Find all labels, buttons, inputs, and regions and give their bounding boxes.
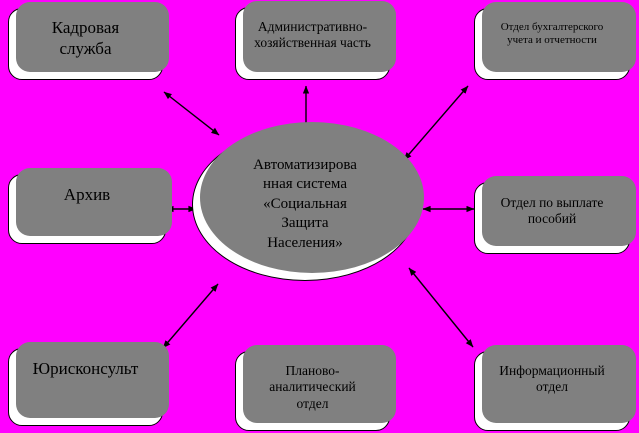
node-label: Отдел бухгалтерского учета и отчетности bbox=[475, 21, 629, 48]
node-label: Административно- хозяйственная часть bbox=[236, 19, 389, 52]
node-label: Отдел по выплате пособий bbox=[475, 195, 629, 228]
connector-center-to-informatsionnyy-otdel bbox=[409, 268, 473, 347]
node-label: Информационный отдел bbox=[475, 363, 629, 396]
node-label: Кадровая служба bbox=[9, 18, 162, 59]
node-administrativno-hozyaystvennaya-chast[interactable]: Административно- хозяйственная часть bbox=[235, 7, 390, 80]
connector-center-to-otdel-buhgalterskogo-ucheta bbox=[404, 86, 468, 160]
connector-center-to-kadrovaya-sluzhba bbox=[164, 92, 219, 135]
connector-center-to-yuriskonsult bbox=[163, 284, 218, 348]
node-kadrovaya-sluzhba[interactable]: Кадровая служба bbox=[8, 8, 163, 80]
node-center-system[interactable]: Автоматизирова нная система «Социальная … bbox=[192, 128, 418, 281]
node-label: Архив bbox=[9, 185, 165, 206]
node-label: Юрисконсульт bbox=[9, 359, 162, 380]
node-otdel-po-vyplate-posobiy[interactable]: Отдел по выплате пособий bbox=[474, 182, 630, 254]
node-planovo-analiticheskiy-otdel[interactable]: Планово- аналитический отдел bbox=[235, 351, 390, 431]
node-label: Автоматизирова нная система «Социальная … bbox=[209, 156, 402, 254]
node-informatsionnyy-otdel[interactable]: Информационный отдел bbox=[474, 351, 630, 431]
node-yuriskonsult[interactable]: Юрисконсульт bbox=[8, 348, 163, 426]
diagram-canvas: Кадровая служба Административно- хозяйст… bbox=[0, 0, 639, 433]
node-otdel-buhgalterskogo-ucheta[interactable]: Отдел бухгалтерского учета и отчетности bbox=[474, 8, 630, 80]
node-label: Планово- аналитический отдел bbox=[236, 363, 389, 412]
node-arhiv[interactable]: Архив bbox=[8, 174, 166, 244]
